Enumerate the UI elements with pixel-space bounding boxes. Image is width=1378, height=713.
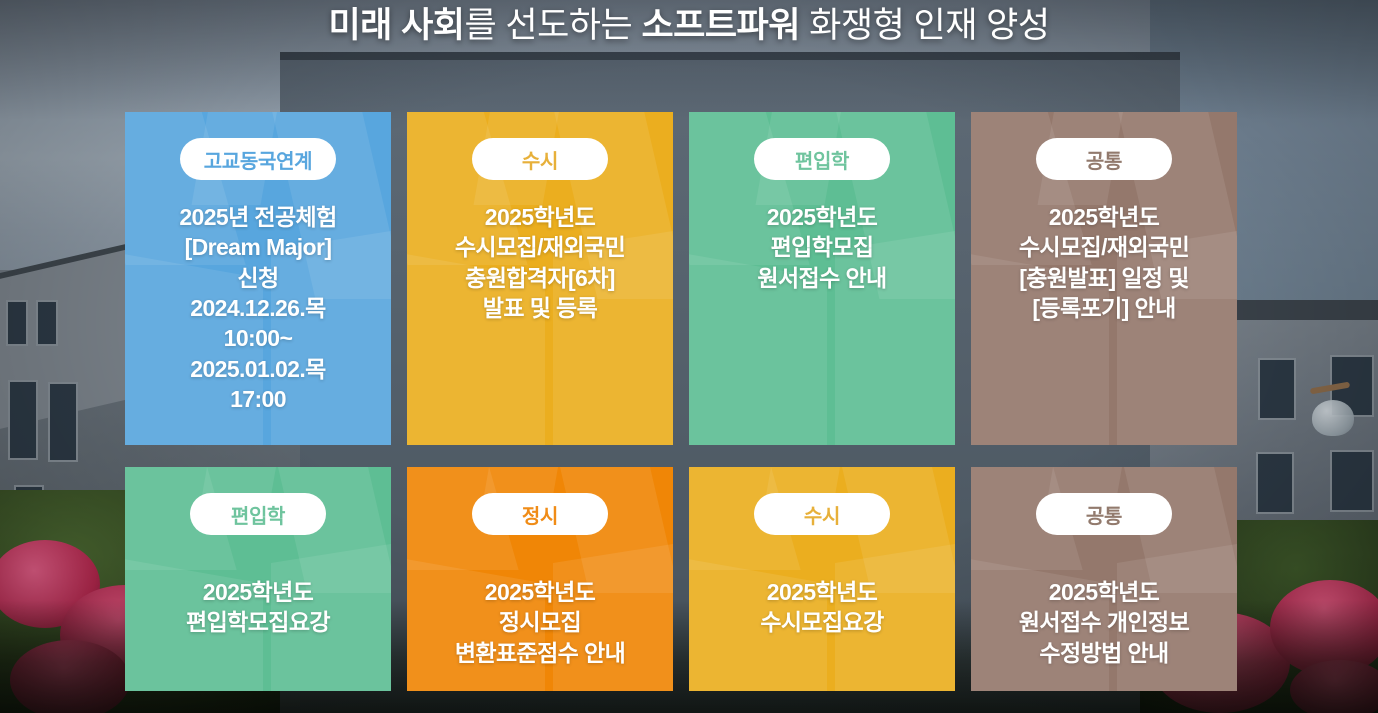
notice-card-4[interactable]: 공통2025학년도 수시모집/재외국민 [충원발표] 일정 및 [등록포기] 안… (971, 112, 1237, 445)
notice-card-2[interactable]: 수시2025학년도 수시모집/재외국민 충원합격자[6차] 발표 및 등록 (407, 112, 673, 445)
card-title: 2025학년도 수시모집/재외국민 [충원발표] 일정 및 [등록포기] 안내 (1011, 202, 1197, 323)
page-stage: 미래 사회를 선도하는 소프트파워 화쟁형 인재 양성 고교동국연계2025년 … (0, 0, 1378, 713)
card-title: 2025학년도 원서접수 개인정보 수정방법 안내 (1011, 577, 1197, 668)
page-title-segment-3: 화쟁형 인재 양성 (800, 6, 1050, 45)
card-category-badge: 고교동국연계 (180, 138, 337, 180)
notice-card-6[interactable]: 정시2025학년도 정시모집 변환표준점수 안내 (407, 467, 673, 691)
page-title-segment-0: 미래 사회 (328, 6, 464, 45)
card-category-badge: 수시 (472, 138, 608, 180)
notice-card-5[interactable]: 편입학2025학년도 편입학모집요강 (125, 467, 391, 691)
page-title-segment-1: 를 선도하는 (464, 6, 641, 45)
card-category-badge: 수시 (754, 493, 890, 535)
page-title-segment-2: 소프트파워 (641, 6, 800, 45)
card-category-badge: 정시 (472, 493, 608, 535)
notice-card-7[interactable]: 수시2025학년도 수시모집요강 (689, 467, 955, 691)
card-title: 2025학년도 수시모집/재외국민 충원합격자[6차] 발표 및 등록 (447, 202, 633, 323)
card-category-badge: 공통 (1036, 138, 1172, 180)
card-title: 2025학년도 정시모집 변환표준점수 안내 (447, 577, 633, 668)
card-title: 2025년 전공체험 [Dream Major] 신청 2024.12.26.목… (171, 202, 344, 415)
card-category-badge: 편입학 (190, 493, 326, 535)
notice-card-grid: 고교동국연계2025년 전공체험 [Dream Major] 신청 2024.1… (125, 112, 1237, 691)
notice-card-8[interactable]: 공통2025학년도 원서접수 개인정보 수정방법 안내 (971, 467, 1237, 691)
card-title: 2025학년도 수시모집요강 (752, 577, 891, 638)
card-category-badge: 공통 (1036, 493, 1172, 535)
notice-card-3[interactable]: 편입학2025학년도 편입학모집 원서접수 안내 (689, 112, 955, 445)
page-title: 미래 사회를 선도하는 소프트파워 화쟁형 인재 양성 (0, 4, 1378, 48)
card-category-badge: 편입학 (754, 138, 890, 180)
card-title: 2025학년도 편입학모집 원서접수 안내 (749, 202, 894, 293)
notice-card-1[interactable]: 고교동국연계2025년 전공체험 [Dream Major] 신청 2024.1… (125, 112, 391, 445)
card-title: 2025학년도 편입학모집요강 (178, 577, 338, 638)
